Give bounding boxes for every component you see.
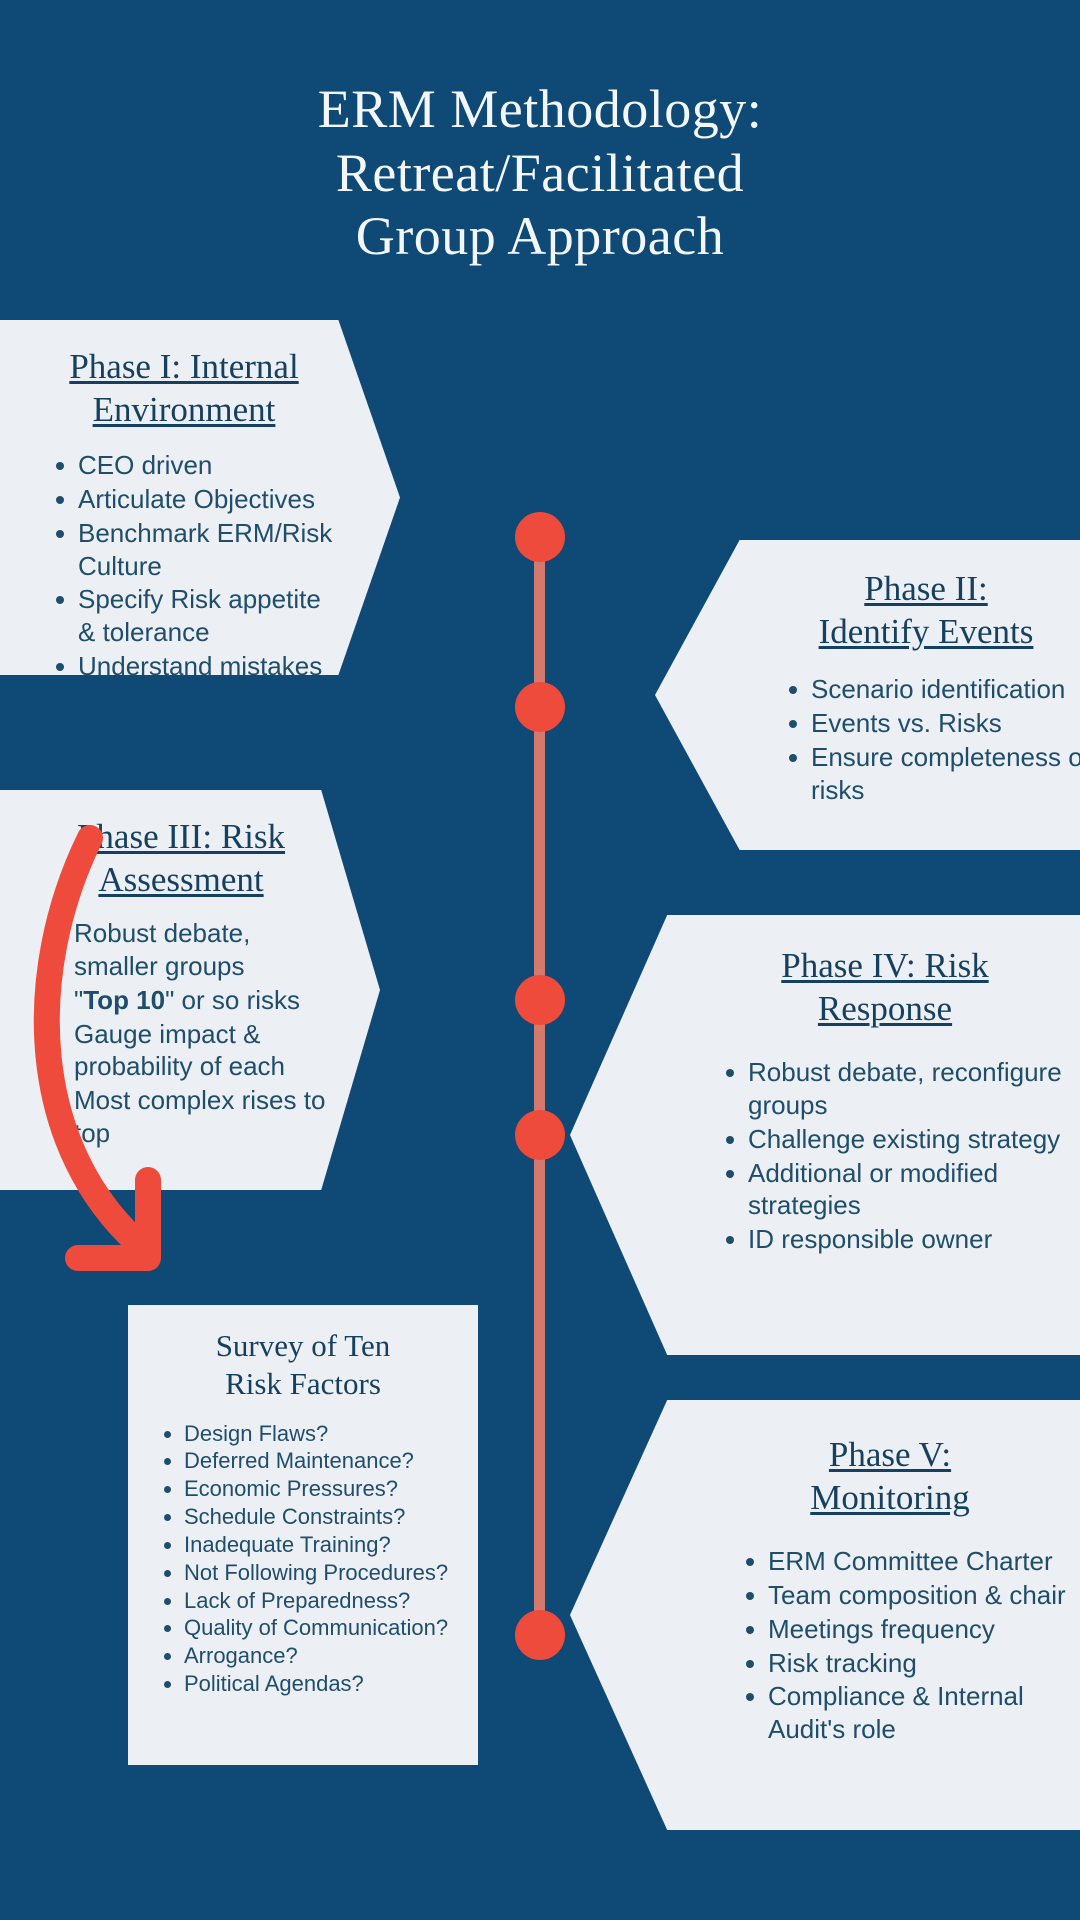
title-line-3: Group Approach xyxy=(0,205,1080,269)
phase-3-card[interactable]: Phase III: Risk Assessment Robust debate… xyxy=(0,790,380,1190)
page-title: ERM Methodology: Retreat/Facilitated Gro… xyxy=(0,78,1080,269)
list-item: Risk tracking xyxy=(740,1647,1080,1680)
list-item: Compliance & Internal Audit's role xyxy=(740,1680,1080,1746)
phase-2-heading: Phase II: Identify Events xyxy=(761,568,1080,653)
timeline-dot-3 xyxy=(515,975,565,1025)
phase-4-heading-line-2: Response xyxy=(818,989,952,1028)
timeline-dot-1 xyxy=(515,512,565,562)
list-item: CEO driven xyxy=(50,449,340,482)
list-item: Scenario identification xyxy=(783,673,1080,706)
timeline-connector-4 xyxy=(534,1135,545,1635)
list-item: ERM Committee Charter xyxy=(740,1545,1080,1578)
list-item: Understand mistakes of others xyxy=(50,650,340,716)
top10-suffix: " or so risks xyxy=(165,985,300,1015)
list-item: Not Following Procedures? xyxy=(160,1560,468,1587)
list-item: Gauge impact & probability of each xyxy=(46,1018,340,1084)
list-item: Economic Pressures? xyxy=(160,1476,468,1503)
phase-5-heading-line-2: Monitoring xyxy=(810,1478,969,1517)
phase-5-heading: Phase V: Monitoring xyxy=(730,1434,1050,1519)
list-item: Arrogance? xyxy=(160,1643,468,1670)
phase-4-heading-line-1: Phase IV: Risk xyxy=(781,946,988,985)
phase-3-bullet-list: Robust debate, smaller groups "Top 10" o… xyxy=(46,917,340,1149)
list-item: Deferred Maintenance? xyxy=(160,1448,468,1475)
infographic-canvas: ERM Methodology: Retreat/Facilitated Gro… xyxy=(0,0,1080,1920)
list-item: Team composition & chair xyxy=(740,1579,1080,1612)
list-item: ID responsible owner xyxy=(720,1223,1080,1256)
timeline-dot-4 xyxy=(515,1110,565,1160)
list-item: Most complex rises to top xyxy=(46,1084,340,1150)
survey-heading-line-2: Risk Factors xyxy=(225,1366,381,1401)
timeline-connector-2 xyxy=(534,707,545,1000)
phase-4-heading: Phase IV: Risk Response xyxy=(690,945,1080,1030)
survey-card[interactable]: Survey of Ten Risk Factors Design Flaws?… xyxy=(128,1305,478,1765)
phase-1-card[interactable]: Phase I: Internal Environment CEO driven… xyxy=(0,320,400,675)
list-item-top10: "Top 10" or so risks xyxy=(46,984,340,1017)
title-line-2: Retreat/Facilitated xyxy=(0,142,1080,206)
list-item: Lack of Preparedness? xyxy=(160,1588,468,1615)
list-item: Political Agendas? xyxy=(160,1671,468,1698)
phase-5-card[interactable]: Phase V: Monitoring ERM Committee Charte… xyxy=(570,1400,1080,1830)
phase-3-heading-line-1: Phase III: Risk xyxy=(77,817,285,856)
phase-2-card[interactable]: Phase II: Identify Events Scenario ident… xyxy=(655,540,1080,850)
phase-3-heading: Phase III: Risk Assessment xyxy=(22,816,340,901)
list-item: Robust debate, reconfigure groups xyxy=(720,1056,1080,1122)
list-item: Challenge existing strategy xyxy=(720,1123,1080,1156)
list-item: Quality of Communication? xyxy=(160,1615,468,1642)
phase-5-heading-line-1: Phase V: xyxy=(829,1435,951,1474)
survey-bullet-list: Design Flaws? Deferred Maintenance? Econ… xyxy=(160,1421,468,1698)
list-item: Inadequate Training? xyxy=(160,1532,468,1559)
timeline-dot-2 xyxy=(515,682,565,732)
list-item: Meetings frequency xyxy=(740,1613,1080,1646)
phase-1-heading-line-2: Environment xyxy=(93,390,276,429)
timeline-dot-5 xyxy=(515,1610,565,1660)
list-item: Ensure completeness of risks xyxy=(783,741,1080,807)
phase-2-heading-line-2: Identify Events xyxy=(819,612,1034,651)
list-item: Events vs. Risks xyxy=(783,707,1080,740)
list-item: Benchmark ERM/Risk Culture xyxy=(50,517,340,583)
phase-5-bullet-list: ERM Committee Charter Team composition &… xyxy=(740,1545,1080,1746)
list-item: Design Flaws? xyxy=(160,1421,468,1448)
phase-3-heading-line-2: Assessment xyxy=(98,860,263,899)
phase-1-heading: Phase I: Internal Environment xyxy=(16,346,352,431)
list-item: Articulate Objectives xyxy=(50,483,340,516)
phase-4-bullet-list: Robust debate, reconfigure groups Challe… xyxy=(720,1056,1080,1256)
phase-1-heading-line-1: Phase I: Internal xyxy=(69,347,298,386)
list-item: Additional or modified strategies xyxy=(720,1157,1080,1223)
list-item: Schedule Constraints? xyxy=(160,1504,468,1531)
phase-4-card[interactable]: Phase IV: Risk Response Robust debate, r… xyxy=(570,915,1080,1355)
title-line-1: ERM Methodology: xyxy=(0,78,1080,142)
top10-prefix: " xyxy=(74,985,83,1015)
list-item: Robust debate, smaller groups xyxy=(46,917,340,983)
phase-1-bullet-list: CEO driven Articulate Objectives Benchma… xyxy=(50,449,340,715)
phase-2-heading-line-1: Phase II: xyxy=(864,569,987,608)
list-item: Specify Risk appetite & tolerance xyxy=(50,583,340,649)
phase-2-bullet-list: Scenario identification Events vs. Risks… xyxy=(783,673,1080,806)
survey-heading-line-1: Survey of Ten xyxy=(216,1328,391,1363)
survey-heading: Survey of Ten Risk Factors xyxy=(146,1327,460,1403)
top10-bold: Top 10 xyxy=(83,985,165,1015)
